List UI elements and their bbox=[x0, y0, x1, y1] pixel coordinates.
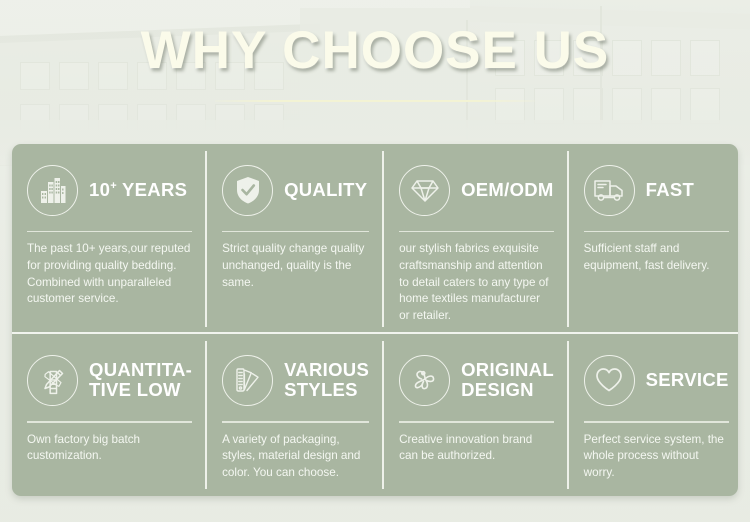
feature-card-body: Own factory big batch customization. bbox=[27, 432, 192, 465]
flower-clover-icon bbox=[399, 355, 450, 406]
feature-card-body: our stylish fabrics exquisite craftsmans… bbox=[399, 241, 554, 324]
feature-card-original-design[interactable]: ORIGINAL DESIGN Creative innovation bran… bbox=[384, 334, 569, 496]
feature-card-body: A variety of packaging, styles, material… bbox=[222, 432, 369, 482]
delivery-truck-icon bbox=[584, 165, 635, 216]
title-underline bbox=[215, 100, 535, 102]
feature-card-oem-odm[interactable]: OEM/ODM our stylish fabrics exquisite cr… bbox=[384, 144, 569, 334]
feature-card-body: Strict quality change quality unchanged,… bbox=[222, 241, 369, 291]
feature-card-header: SERVICE bbox=[584, 348, 729, 412]
feature-card-title: VARIOUS STYLES bbox=[284, 360, 369, 401]
feature-card-header: FAST bbox=[584, 158, 729, 222]
feature-card-header: OEM/ODM bbox=[399, 158, 554, 222]
color-swatch-fan-icon bbox=[222, 355, 273, 406]
feature-card-title: 10+ YEARS bbox=[89, 180, 187, 201]
page-title: WHY CHOOSE US bbox=[141, 24, 609, 77]
feature-card-quality[interactable]: QUALITY Strict quality change quality un… bbox=[207, 144, 384, 334]
feature-card-title: QUANTITA-TIVE LOW bbox=[89, 360, 192, 401]
card-divider bbox=[222, 421, 369, 422]
feature-card-title: OEM/ODM bbox=[461, 180, 554, 201]
card-divider bbox=[399, 231, 554, 232]
feature-card-header: VARIOUS STYLES bbox=[222, 348, 369, 412]
pen-ruler-icon bbox=[27, 355, 78, 406]
feature-card-title: QUALITY bbox=[284, 180, 367, 201]
feature-card-years[interactable]: 10+ YEARS The past 10+ years,our reputed… bbox=[12, 144, 207, 334]
why-choose-us-banner: WHY CHOOSE US bbox=[0, 0, 750, 522]
feature-card-fast[interactable]: FAST Sufficient staff and equipment, fas… bbox=[569, 144, 738, 334]
card-divider bbox=[584, 231, 729, 232]
features-grid: 10+ YEARS The past 10+ years,our reputed… bbox=[12, 144, 738, 496]
features-panel: 10+ YEARS The past 10+ years,our reputed… bbox=[12, 144, 738, 496]
feature-card-header: QUALITY bbox=[222, 158, 369, 222]
feature-card-header: QUANTITA-TIVE LOW bbox=[27, 348, 192, 412]
card-divider bbox=[399, 421, 554, 422]
shield-check-icon bbox=[222, 165, 273, 216]
feature-card-body: Sufficient staff and equipment, fast del… bbox=[584, 241, 729, 274]
diamond-icon bbox=[399, 165, 450, 216]
feature-card-header: 10+ YEARS bbox=[27, 158, 192, 222]
card-divider bbox=[584, 421, 729, 422]
feature-card-body: Perfect service system, the whole proces… bbox=[584, 432, 729, 482]
card-divider bbox=[27, 421, 192, 422]
feature-card-title: FAST bbox=[646, 180, 694, 201]
feature-card-title: SERVICE bbox=[646, 370, 729, 391]
feature-card-quantitative-low[interactable]: QUANTITA-TIVE LOW Own factory big batch … bbox=[12, 334, 207, 496]
feature-card-body: Creative innovation brand can be authori… bbox=[399, 432, 554, 465]
office-building-icon bbox=[27, 165, 78, 216]
feature-card-service[interactable]: SERVICE Perfect service system, the whol… bbox=[569, 334, 738, 496]
feature-card-body: The past 10+ years,our reputed for provi… bbox=[27, 241, 192, 307]
feature-card-header: ORIGINAL DESIGN bbox=[399, 348, 554, 412]
page-title-container: WHY CHOOSE US bbox=[0, 24, 750, 77]
feature-card-title: ORIGINAL DESIGN bbox=[461, 360, 554, 401]
heart-icon bbox=[584, 355, 635, 406]
feature-card-various-styles[interactable]: VARIOUS STYLES A variety of packaging, s… bbox=[207, 334, 384, 496]
card-divider bbox=[222, 231, 369, 232]
card-divider bbox=[27, 231, 192, 232]
